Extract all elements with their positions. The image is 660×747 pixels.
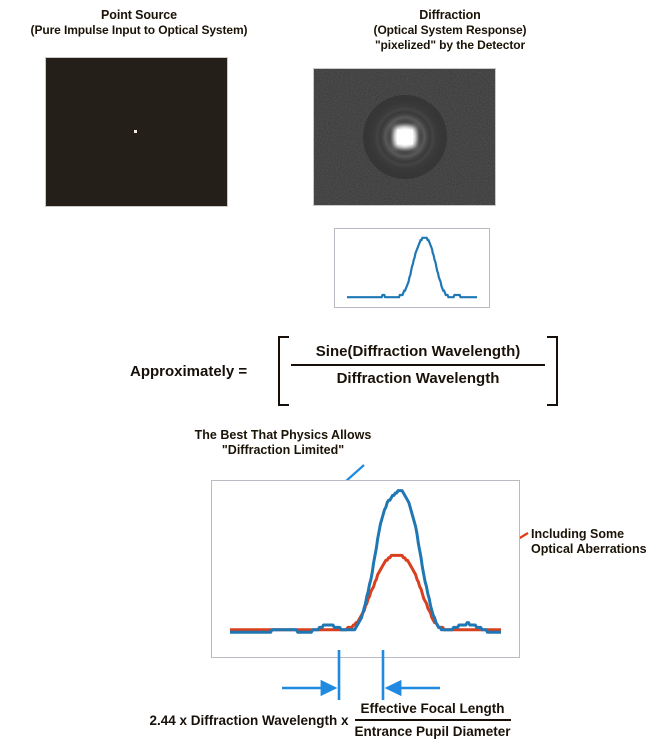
psf-comparison-curves — [212, 481, 519, 657]
bracket-right — [547, 336, 558, 406]
equation-lead-label: Approximately = — [130, 363, 247, 380]
equation-fraction: Sine(Diffraction Wavelength) Diffraction… — [291, 342, 545, 389]
diffraction-subtitle-2: "pixelized" by the Detector — [300, 38, 600, 53]
aperture-formula-lead: 2.44 x Diffraction Wavelength x — [149, 713, 354, 728]
equation-bracket-group: Sine(Diffraction Wavelength) Diffraction… — [278, 336, 558, 406]
annotation-aberrations-line2: Optical Aberrations — [531, 542, 659, 557]
diffraction-title: Diffraction — [300, 8, 600, 23]
bracket-left — [278, 336, 289, 406]
psf-comparison-chart — [211, 480, 520, 658]
annotation-diffraction-limited-line1: The Best That Physics Allows — [175, 428, 391, 443]
diffraction-profile-plot — [334, 228, 490, 308]
diffraction-subtitle-1: (Optical System Response) — [300, 23, 600, 38]
annotation-aberrations-line1: Including Some — [531, 527, 659, 542]
equation-denominator: Diffraction Wavelength — [291, 366, 545, 389]
point-source-title: Point Source — [0, 8, 278, 23]
point-source-image-panel — [45, 57, 228, 207]
airy-disk-core — [397, 130, 413, 145]
aperture-formula-numerator: Effective Focal Length — [355, 700, 511, 721]
annotation-diffraction-limited: The Best That Physics Allows "Diffractio… — [175, 428, 391, 458]
diagram-canvas: Point Source (Pure Impulse Input to Opti… — [0, 0, 660, 747]
point-source-dot — [134, 130, 137, 133]
aperture-formula: 2.44 x Diffraction Wavelength x Effectiv… — [0, 700, 660, 741]
diffraction-image-panel — [313, 68, 496, 206]
point-source-subtitle: (Pure Impulse Input to Optical System) — [0, 23, 278, 38]
measurement-indicator — [240, 650, 500, 702]
diffraction-caption: Diffraction (Optical System Response) "p… — [300, 8, 600, 53]
annotation-diffraction-limited-line2: "Diffraction Limited" — [175, 443, 391, 458]
annotation-optical-aberrations: Including Some Optical Aberrations — [531, 527, 659, 557]
aperture-formula-fraction: Effective Focal Length Entrance Pupil Di… — [355, 700, 511, 741]
aperture-formula-denominator: Entrance Pupil Diameter — [355, 721, 511, 741]
diffraction-profile-curve — [335, 229, 489, 307]
equation-numerator: Sine(Diffraction Wavelength) — [291, 342, 545, 366]
point-source-caption: Point Source (Pure Impulse Input to Opti… — [0, 8, 278, 38]
